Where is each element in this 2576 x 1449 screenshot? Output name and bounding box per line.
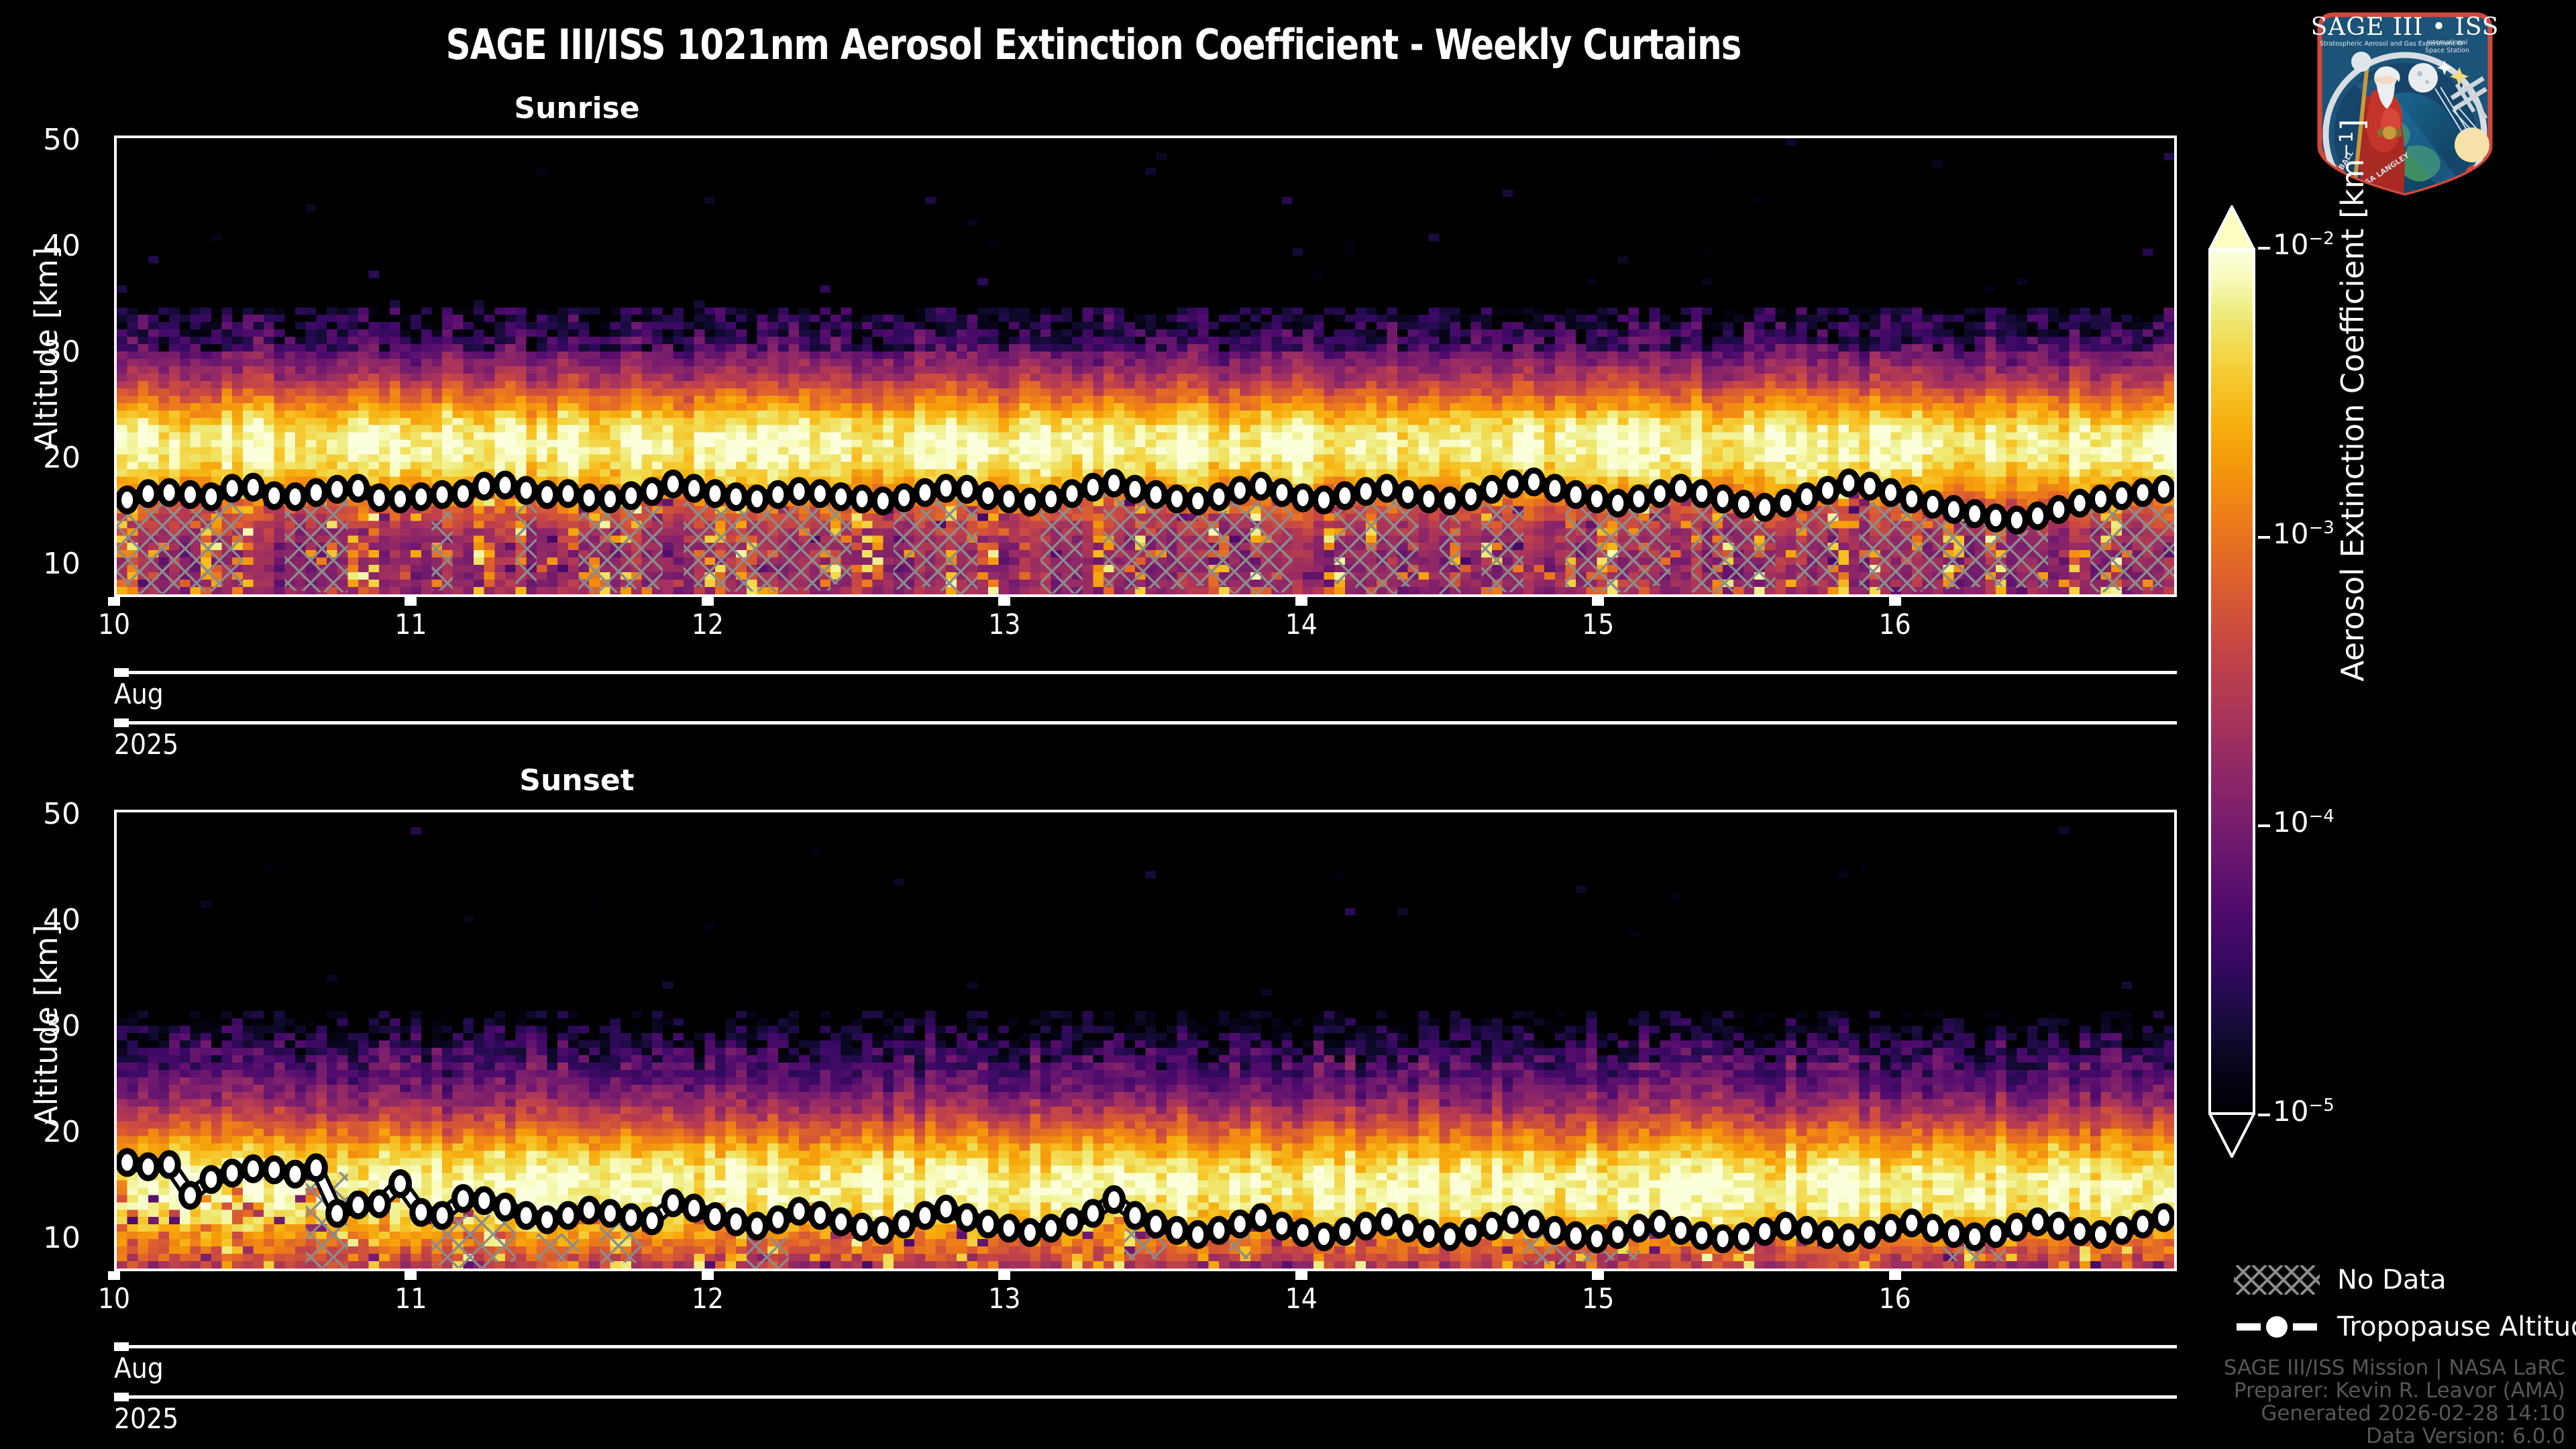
tropopause-marker: [1756, 1220, 1774, 1243]
x-tick-label-13: 13: [957, 608, 1051, 641]
y-tick-sunset-10: 10: [13, 1221, 80, 1255]
colorbar-tick-label-3: 10−5: [2273, 1095, 2334, 1128]
tropopause-marker: [1189, 490, 1207, 513]
tropopause-marker: [1651, 1213, 1668, 1236]
y-tick-sunset-50: 50: [13, 797, 80, 831]
tropopause-marker: [392, 1173, 409, 1195]
x-axis-ticks-sunset: 10111213141516: [0, 0, 2576, 1]
tropopause-marker: [2029, 504, 2047, 527]
tropopause-marker: [140, 1155, 157, 1178]
colorbar[interactable]: 10−210−310−410−5: [2208, 205, 2255, 1158]
tropopause-marker: [1336, 484, 1354, 507]
tropopause-marker: [643, 1210, 661, 1232]
tropopause-marker: [1189, 1223, 1207, 1246]
colorbar-over-arrow: [2208, 205, 2255, 251]
tropopause-marker: [1462, 1221, 1480, 1244]
colorbar-label-tail: ]: [2334, 119, 2371, 131]
tropopause-marker: [307, 1157, 325, 1179]
tropopause-marker: [1483, 478, 1501, 500]
tropopause-marker: [1987, 1222, 2004, 1245]
tropopause-marker: [2113, 484, 2131, 507]
tropopause-marker: [244, 1157, 262, 1180]
tropopause-marker: [1273, 1215, 1291, 1238]
colorbar-tick-exponent-2: −4: [2308, 806, 2334, 826]
tropopause-marker: [1945, 1222, 1962, 1245]
tropopause-marker: [1882, 1217, 1900, 1240]
tropopause-marker: [119, 488, 136, 511]
footer-line-version: Data Version: 6.0.0: [2224, 1425, 2565, 1448]
tropopause-marker: [874, 1219, 892, 1242]
x-tick-mark-13: [998, 597, 1010, 606]
tropopause-marker: [1546, 477, 1564, 500]
x-tick-label-12: 12: [661, 608, 755, 641]
legend-item-no-data[interactable]: No Data: [2234, 1261, 2576, 1299]
tropopause-marker: [853, 1216, 871, 1238]
x-level-line-month-sunrise: [114, 671, 2177, 674]
tropopause-marker: [749, 1215, 766, 1238]
tropopause-marker: [1021, 490, 1038, 513]
tropopause-marker: [686, 1197, 703, 1220]
footer-line-mission: SAGE III/ISS Mission | NASA LaRC: [2224, 1356, 2565, 1379]
tropopause-marker: [1441, 1226, 1458, 1248]
x-year-label-sunset: 2025: [114, 1402, 178, 1435]
x-level-stub-year-sunrise: [114, 718, 129, 727]
tropopause-marker: [1462, 486, 1480, 508]
tropopause-marker: [223, 477, 241, 500]
tropopause-marker: [1882, 481, 1900, 504]
tropopause-marker: [1672, 477, 1690, 500]
tropopause-marker: [1693, 482, 1711, 505]
colorbar-under-arrow: [2208, 1112, 2255, 1158]
tropopause-marker: [1651, 482, 1668, 505]
tropopause-marker: [874, 490, 892, 513]
tropopause-marker: [1420, 488, 1438, 511]
tropopause-marker: [160, 1153, 178, 1176]
tropopause-marker: [1063, 482, 1081, 505]
tropopause-marker: [1840, 472, 1858, 494]
y-tick-sunrise-30: 30: [13, 335, 80, 369]
x-tick-label-12: 12: [661, 1282, 755, 1315]
tropopause-marker: [1903, 1212, 1921, 1234]
x-tick-mark-15: [1592, 1271, 1604, 1280]
x-tick-mark-12: [702, 597, 714, 606]
tropopause-marker: [664, 473, 682, 496]
tropopause-marker: [1924, 1217, 1941, 1240]
footer-line-generated: Generated 2026-02-28 14:10: [2224, 1402, 2565, 1425]
tropopause-marker: [1861, 1223, 1878, 1246]
tropopause-marker: [1021, 1221, 1038, 1244]
tropopause-marker: [1798, 486, 1815, 508]
tropopause-marker: [370, 1193, 388, 1216]
tropopause-marker: [1273, 481, 1291, 504]
tropopause-marker: [727, 486, 745, 508]
tropopause-marker: [896, 1213, 913, 1236]
tropopause-marker: [1126, 1204, 1144, 1227]
tropopause-marker: [1693, 1224, 1711, 1247]
tropopause-marker: [223, 1162, 241, 1185]
x-level-line-year-sunrise: [114, 721, 2177, 724]
tropopause-marker: [182, 483, 199, 506]
x-month-label-sunrise: Aug: [114, 678, 164, 710]
tropopause-marker: [1084, 1202, 1102, 1225]
tropopause-marker: [140, 482, 157, 505]
tropopause-marker: [1294, 486, 1311, 509]
tropopause-marker: [1987, 506, 2004, 529]
tropopause-marker: [916, 481, 934, 504]
tropopause-marker: [706, 482, 724, 505]
colorbar-tick-label-1: 10−3: [2273, 517, 2334, 550]
tropopause-marker: [454, 1187, 472, 1210]
x-tick-label-15: 15: [1551, 608, 1645, 641]
tropopause-marker: [476, 1189, 493, 1212]
tropopause-marker: [119, 1151, 136, 1174]
x-level-stub-month-sunset: [114, 1342, 129, 1351]
legend-item-tropopause[interactable]: Tropopause Altitude: [2234, 1308, 2576, 1346]
tropopause-marker: [433, 483, 451, 506]
tropopause-marker: [602, 1202, 619, 1225]
tropopause-marker: [1168, 1219, 1185, 1242]
logo-subtitle-right-2: Space Station: [2425, 47, 2469, 54]
footer-credits: SAGE III/ISS Mission | NASA LaRC Prepare…: [2224, 1356, 2565, 1448]
tropopause-marker: [517, 479, 535, 502]
tropopause-marker: [1378, 477, 1395, 500]
tropopause-marker: [1735, 1226, 1752, 1248]
tropopause-marker: [203, 486, 220, 508]
tropopause-marker: [1966, 502, 1984, 525]
x-tick-mark-11: [405, 597, 417, 606]
tropopause-marker: [706, 1205, 724, 1228]
tropopause-marker: [1609, 1223, 1627, 1246]
tropopause-marker: [833, 486, 850, 508]
tropopause-marker: [1378, 1210, 1395, 1233]
tropopause-marker: [1588, 488, 1605, 511]
tropopause-marker: [811, 1204, 828, 1227]
tropopause-marker: [833, 1210, 850, 1233]
colorbar-axis-label: Aerosol Extinction Coefficient [km−1]: [2334, 119, 2371, 682]
tropopause-marker: [1000, 1217, 1018, 1240]
y-tick-sunrise-40: 40: [13, 229, 80, 263]
tropopause-marker: [1567, 1224, 1585, 1247]
tropopause-marker: [1000, 488, 1018, 511]
tropopause-marker: [350, 477, 367, 500]
x-level-line-year-sunset: [114, 1395, 2177, 1399]
y-tick-sunset-30: 30: [13, 1009, 80, 1043]
tropopause-marker: [1399, 483, 1417, 506]
tropopause-marker: [1609, 492, 1627, 515]
tropopause-marker: [1252, 475, 1270, 498]
tropopause-marker: [1042, 488, 1060, 511]
x-tick-mark-13: [998, 1271, 1010, 1280]
colorbar-tick-mark-1: [2258, 536, 2270, 539]
tropopause-marker: [1924, 493, 1941, 516]
x-month-label-sunset: Aug: [114, 1352, 164, 1385]
tropopause-marker: [203, 1168, 220, 1191]
colorbar-tick-label-0: 10−2: [2273, 228, 2334, 261]
x-level-stub-year-sunset: [114, 1393, 129, 1401]
tropopause-marker: [1861, 475, 1878, 498]
tropopause-marker: [559, 1204, 577, 1227]
tropopause-marker: [896, 486, 913, 509]
x-tick-label-11: 11: [364, 608, 458, 641]
tropopause-marker: [769, 483, 787, 506]
colorbar-tick-mantissa-0: 10: [2273, 228, 2308, 261]
svg-text:TAS-I •: TAS-I •: [2453, 187, 2479, 197]
no-data-hatch-swatch-icon: [2234, 1265, 2320, 1295]
logo-title: SAGE III • ISS: [2311, 13, 2500, 41]
colorbar-tick-exponent-1: −3: [2308, 518, 2334, 538]
x-tick-mark-14: [1295, 597, 1307, 606]
colorbar-gradient: [2208, 248, 2255, 1115]
tropopause-marker: [2050, 498, 2068, 521]
tropopause-marker: [979, 1213, 997, 1236]
tropopause-marker: [2071, 1220, 2088, 1243]
tropopause-marker: [350, 1193, 367, 1216]
legend-label-no-data: No Data: [2337, 1265, 2447, 1295]
x-tick-label-15: 15: [1551, 1282, 1645, 1315]
tropopause-marker: [1252, 1206, 1270, 1229]
tropopause-marker: [266, 1159, 283, 1181]
tropopause-marker: [1399, 1217, 1417, 1240]
x-tick-mark-10: [108, 597, 120, 606]
tropopause-marker: [2113, 1219, 2131, 1242]
tropopause-marker: [727, 1210, 745, 1233]
tropopause-marker: [392, 488, 409, 511]
overlay-sunset: [117, 812, 2174, 1269]
tropopause-marker: [2071, 492, 2088, 515]
tropopause-marker: [1945, 498, 1962, 521]
y-tick-sunset-20: 20: [13, 1115, 80, 1149]
tropopause-marker: [2092, 1223, 2110, 1246]
tropopause-marker: [749, 488, 766, 511]
legend: No Data Tropopause Altitude: [2234, 1261, 2576, 1355]
tropopause-marker: [1231, 1213, 1248, 1236]
tropopause-marker: [979, 484, 997, 507]
tropopause-marker: [790, 1200, 808, 1223]
tropopause-marker: [539, 483, 556, 506]
page-title: SAGE III/ISS 1021nm Aerosol Extinction C…: [87, 20, 2099, 69]
tropopause-marker: [1525, 1213, 1543, 1236]
tropopause-marker: [244, 476, 262, 498]
y-tick-sunrise-10: 10: [13, 547, 80, 581]
tropopause-marker: [769, 1208, 787, 1231]
figure-canvas: SAGE III/ISS 1021nm Aerosol Extinction C…: [0, 0, 2576, 1449]
tropopause-marker: [1483, 1215, 1501, 1238]
tropopause-marker: [454, 482, 472, 505]
tropopause-marker: [1777, 492, 1794, 515]
colorbar-label-exponent: −1: [2335, 131, 2357, 158]
footer-line-preparer: Preparer: Kevin R. Leavor (AMA): [2224, 1379, 2565, 1402]
legend-label-tropopause: Tropopause Altitude: [2337, 1311, 2576, 1342]
tropopause-marker: [1357, 480, 1375, 503]
x-tick-mark-11: [405, 1271, 417, 1280]
x-tick-mark-10: [108, 1271, 120, 1280]
tropopause-marker: [1316, 1226, 1333, 1248]
tropopause-marker: [2092, 488, 2110, 511]
x-tick-label-10: 10: [67, 1282, 161, 1315]
x-tick-mark-16: [1889, 597, 1901, 606]
tropopause-marker: [307, 481, 325, 504]
tropopause-marker: [1756, 496, 1774, 519]
tropopause-marker: [2155, 478, 2172, 500]
tropopause-marker-swatch-icon: [2234, 1312, 2320, 1342]
panel-title-sunset: Sunset: [0, 763, 1154, 798]
y-tick-sunset-40: 40: [13, 903, 80, 937]
x-tick-label-13: 13: [957, 1282, 1051, 1315]
tropopause-marker: [1084, 476, 1102, 498]
tropopause-marker: [853, 488, 871, 511]
tropopause-marker: [1630, 1217, 1648, 1240]
tropopause-marker: [959, 1206, 976, 1229]
tropopause-marker: [1168, 488, 1185, 511]
tropopause-marker: [1819, 479, 1837, 502]
colorbar-tick-exponent-3: −5: [2308, 1095, 2334, 1116]
y-tick-sunrise-20: 20: [13, 441, 80, 475]
tropopause-marker: [1588, 1228, 1605, 1250]
tropopause-marker: [1903, 488, 1921, 511]
tropopause-marker: [790, 480, 808, 503]
tropopause-marker: [959, 478, 976, 500]
tropopause-marker: [1420, 1222, 1438, 1245]
tropopause-marker: [1714, 488, 1731, 511]
tropopause-marker: [1147, 483, 1165, 506]
tropopause-marker: [1525, 470, 1543, 493]
tropopause-marker: [1798, 1219, 1815, 1242]
colorbar-tick-mantissa-1: 10: [2273, 517, 2308, 550]
y-tick-sunrise-50: 50: [13, 123, 80, 157]
tropopause-marker: [496, 474, 514, 496]
colorbar-tick-exponent-0: −2: [2308, 229, 2334, 249]
tropopause-marker: [476, 475, 493, 498]
tropopause-marker: [1210, 1219, 1228, 1242]
colorbar-label-text: Aerosol Extinction Coefficient [km: [2334, 159, 2371, 682]
tropopause-marker: [937, 1197, 955, 1220]
tropopause-marker: [1966, 1226, 1984, 1248]
tropopause-marker: [1504, 473, 1521, 496]
tropopause-marker: [686, 477, 703, 500]
colorbar-tick-mark-0: [2258, 247, 2270, 250]
tropopause-marker: [1546, 1219, 1564, 1242]
tropopause-marker: [1336, 1220, 1354, 1243]
tropopause-marker: [1126, 478, 1144, 500]
tropopause-marker: [1357, 1215, 1375, 1238]
tropopause-marker: [286, 1163, 304, 1185]
tropopause-marker: [1106, 1188, 1123, 1211]
tropopause-marker: [413, 486, 430, 508]
plot-area-sunrise: [114, 136, 2177, 597]
plot-area-sunset: [114, 810, 2177, 1271]
tropopause-marker: [433, 1204, 451, 1227]
tropopause-marker: [937, 477, 955, 500]
colorbar-tick-label-2: 10−4: [2273, 806, 2334, 839]
tropopause-marker: [2050, 1215, 2068, 1238]
tropopause-marker: [370, 486, 388, 509]
tropopause-marker: [623, 1206, 640, 1229]
tropopause-marker: [286, 486, 304, 508]
tropopause-marker: [329, 478, 346, 500]
tropopause-marker: [580, 1199, 598, 1222]
tropopause-marker: [2008, 508, 2025, 531]
tropopause-marker: [602, 488, 619, 511]
x-tick-label-10: 10: [67, 608, 161, 641]
tropopause-marker: [2155, 1206, 2172, 1229]
tropopause-marker: [1504, 1208, 1521, 1231]
tropopause-marker: [182, 1184, 199, 1207]
tropopause-marker: [2029, 1210, 2047, 1233]
tropopause-marker: [559, 482, 577, 505]
colorbar-tick-mark-3: [2258, 1114, 2270, 1116]
tropopause-marker: [1106, 472, 1123, 494]
x-level-stub-month-sunrise: [114, 668, 129, 677]
tropopause-marker: [1294, 1221, 1311, 1244]
tropopause-marker: [1147, 1213, 1165, 1236]
x-tick-label-11: 11: [364, 1282, 458, 1315]
tropopause-marker: [496, 1195, 514, 1218]
x-tick-mark-16: [1889, 1271, 1901, 1280]
panel-title-sunrise: Sunrise: [0, 91, 1154, 125]
tropopause-marker: [1735, 493, 1752, 516]
tropopause-marker: [539, 1208, 556, 1231]
tropopause-marker: [1672, 1219, 1690, 1242]
tropopause-marker: [1210, 486, 1228, 508]
x-level-line-month-sunset: [114, 1345, 2177, 1348]
tropopause-marker: [329, 1202, 346, 1225]
x-tick-mark-12: [702, 1271, 714, 1280]
tropopause-marker: [811, 482, 828, 505]
tropopause-marker: [1063, 1210, 1081, 1233]
tropopause-marker: [580, 486, 598, 509]
tropopause-marker: [623, 484, 640, 507]
tropopause-marker: [1630, 488, 1648, 511]
x-year-label-sunrise: 2025: [114, 728, 178, 761]
colorbar-tick-mark-2: [2258, 824, 2270, 827]
tropopause-marker: [2008, 1216, 2025, 1238]
x-tick-mark-14: [1295, 1271, 1307, 1280]
logo-subtitle-right-1: International: [2427, 39, 2468, 46]
overlay-sunrise: [117, 138, 2174, 594]
tropopause-marker: [1714, 1228, 1731, 1250]
x-tick-label-16: 16: [1848, 608, 1942, 641]
tropopause-marker: [517, 1204, 535, 1227]
tropopause-marker: [160, 481, 178, 504]
tropopause-marker: [1567, 483, 1585, 506]
tropopause-marker: [266, 484, 283, 507]
x-tick-label-16: 16: [1848, 1282, 1942, 1315]
tropopause-marker: [1316, 488, 1333, 511]
tropopause-marker: [1840, 1226, 1858, 1249]
tropopause-marker: [2134, 1213, 2151, 1236]
tropopause-marker: [2134, 481, 2151, 504]
tropopause-marker: [413, 1201, 430, 1224]
tropopause-marker: [1231, 479, 1248, 502]
x-tick-mark-15: [1592, 597, 1604, 606]
tropopause-marker: [664, 1191, 682, 1214]
tropopause-marker: [1441, 490, 1458, 513]
colorbar-tick-mantissa-3: 10: [2273, 1095, 2308, 1128]
tropopause-marker: [643, 480, 661, 503]
tropopause-marker: [916, 1204, 934, 1227]
tropopause-marker: [1042, 1217, 1060, 1240]
colorbar-tick-mantissa-2: 10: [2273, 806, 2308, 839]
x-tick-label-14: 14: [1254, 608, 1348, 641]
tropopause-marker: [1777, 1215, 1794, 1238]
x-tick-label-14: 14: [1254, 1282, 1348, 1315]
tropopause-marker: [1819, 1223, 1837, 1246]
